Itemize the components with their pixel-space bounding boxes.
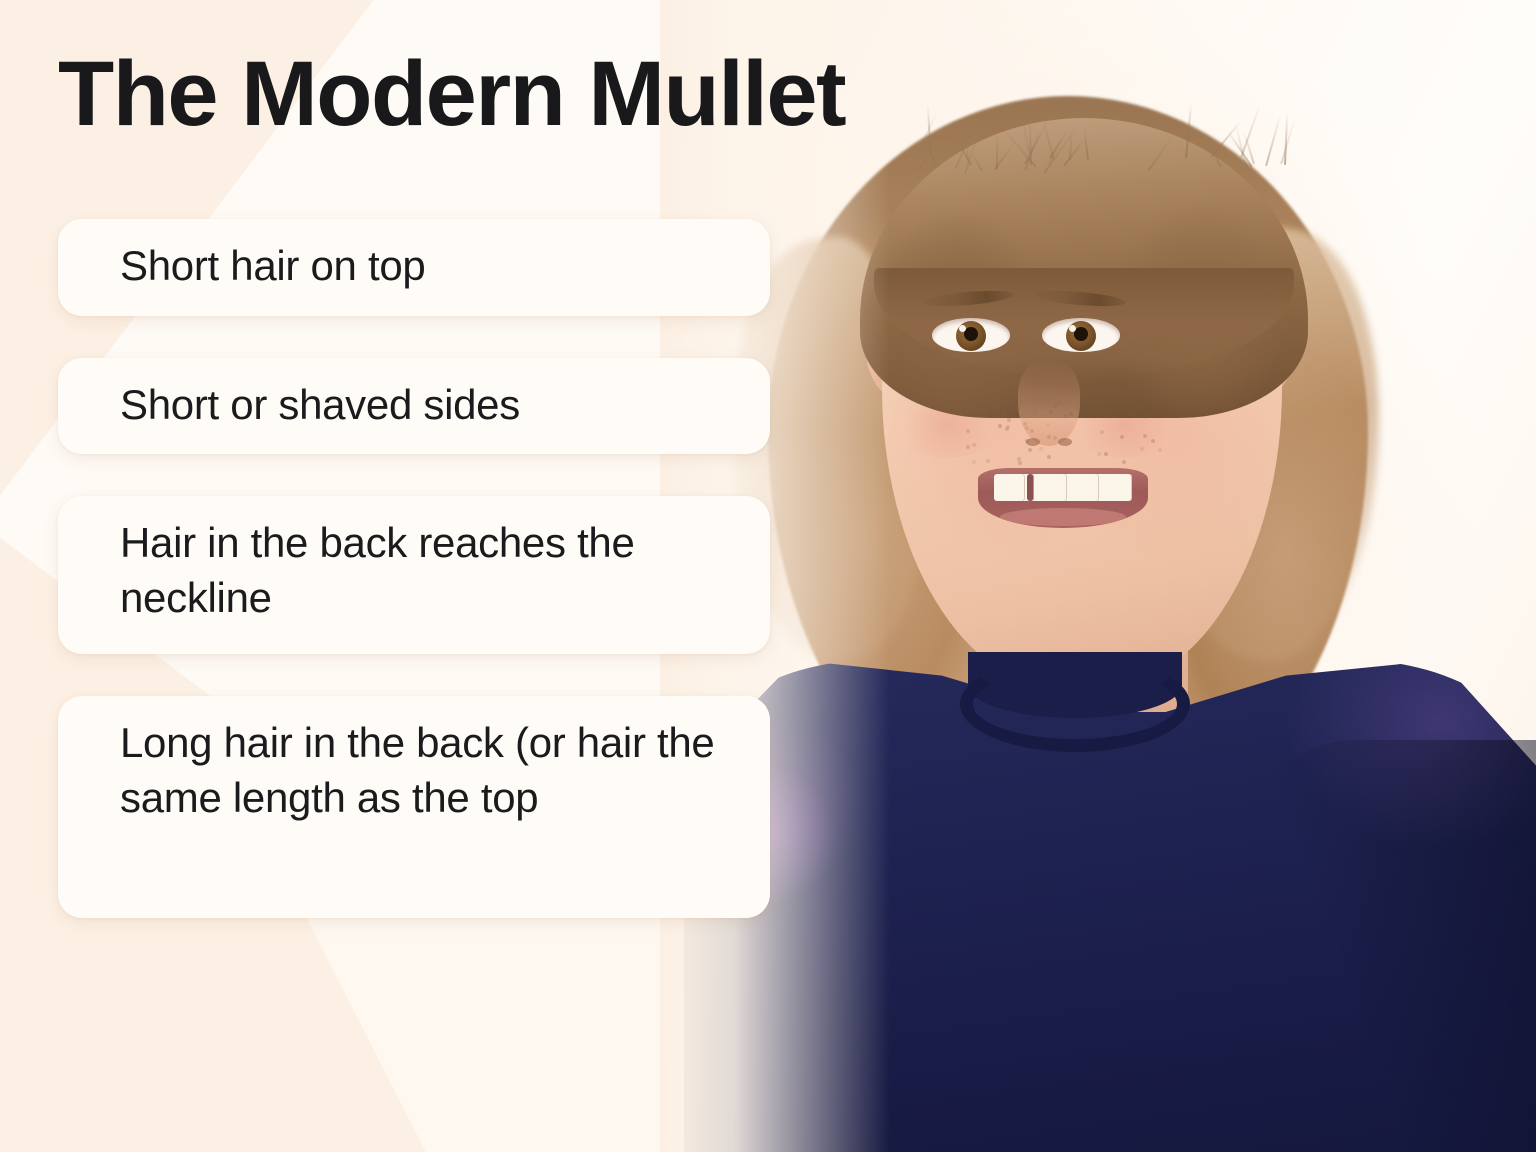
page-title: The Modern Mullet	[58, 48, 845, 142]
feature-card-4[interactable]: Long hair in the back (or hair the same …	[58, 696, 770, 918]
freckles	[960, 400, 1170, 470]
mouth	[978, 468, 1148, 528]
tooth	[1069, 474, 1100, 501]
eye-left	[932, 318, 1010, 352]
tooth	[1036, 474, 1067, 501]
eye-glint-right	[1069, 325, 1076, 332]
infographic-canvas: The Modern Mullet Short hair on top Shor…	[0, 0, 1536, 1152]
sleeve-shadow	[1220, 740, 1536, 1152]
feature-card-1[interactable]: Short hair on top	[58, 219, 770, 316]
pupil-right	[1074, 327, 1088, 341]
feature-card-1-label: Short hair on top	[120, 242, 425, 289]
eye-glint-left	[959, 325, 966, 332]
tooth-gap	[1027, 474, 1035, 501]
hair-flyaway-strands	[910, 104, 1290, 174]
tooth	[1101, 474, 1132, 501]
tooth	[994, 474, 1025, 501]
photo-illustration	[660, 0, 1536, 1152]
feature-list: Short hair on top Short or shaved sides …	[58, 219, 770, 918]
subject-photo	[660, 0, 1536, 1152]
feature-card-3[interactable]: Hair in the back reaches the neckline	[58, 496, 770, 654]
feature-card-4-label: Long hair in the back (or hair the same …	[120, 719, 715, 821]
feature-card-3-label: Hair in the back reaches the neckline	[120, 519, 635, 621]
eye-right	[1042, 318, 1120, 352]
pupil-left	[964, 327, 978, 341]
lower-lip	[1000, 508, 1126, 526]
feature-card-2-label: Short or shaved sides	[120, 381, 520, 428]
teeth	[994, 474, 1132, 501]
feature-card-2[interactable]: Short or shaved sides	[58, 358, 770, 455]
tshirt-collar	[960, 656, 1190, 752]
